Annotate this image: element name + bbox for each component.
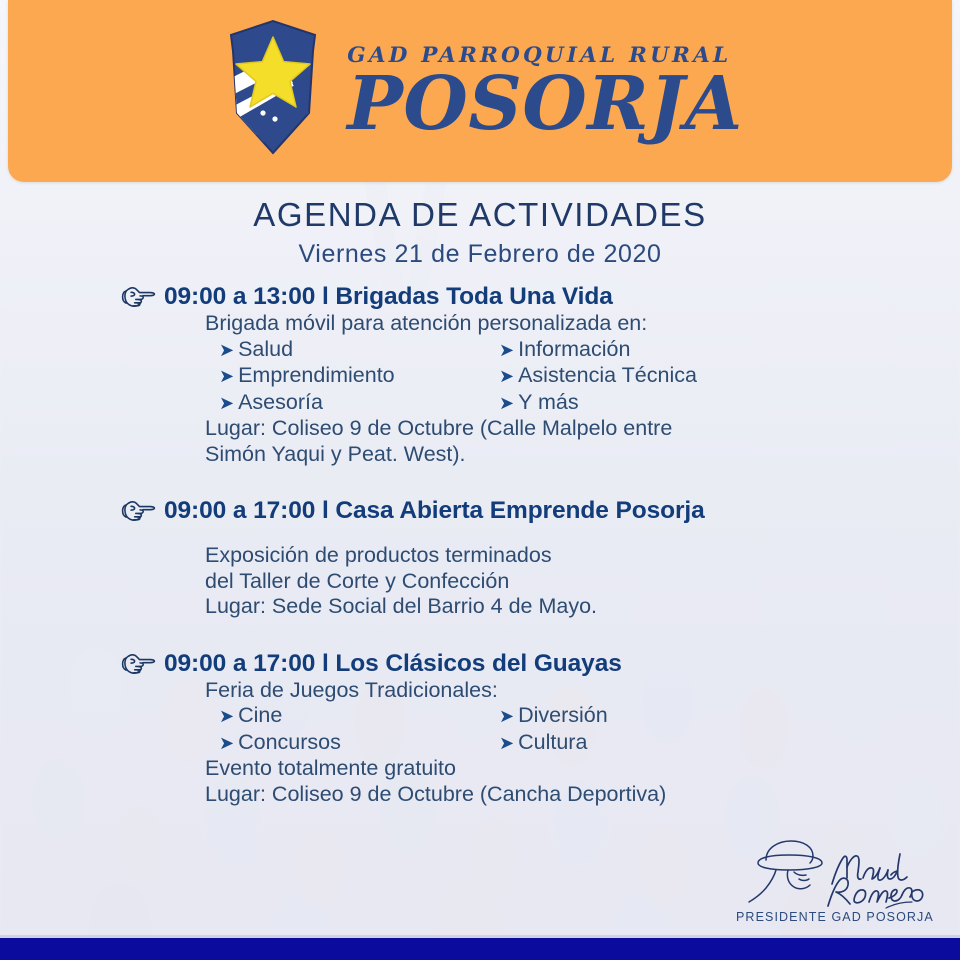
brand-lockup: GAD PARROQUIAL RURAL POSORJA — [217, 17, 742, 157]
event-location-line: Lugar: Coliseo 9 de Octubre (Calle Malpe… — [205, 416, 960, 442]
bullet-item: ➤ Emprendimiento — [219, 363, 499, 390]
event-title: 09:00 a 13:00 l Brigadas Toda Una Vida — [164, 283, 613, 311]
event-location-line: Simón Yaqui y Peat. West). — [205, 442, 960, 468]
signature-caption: PRESIDENTE GAD POSORJA — [736, 910, 932, 924]
event-heading: 09:00 a 17:00 l Los Clásicos del Guayas — [0, 650, 960, 678]
bullet-label: Y más — [518, 390, 579, 416]
event-item: 09:00 a 17:00 l Casa Abierta Emprende Po… — [0, 497, 960, 620]
bullet-arrow-icon: ➤ — [499, 391, 514, 417]
event-item: 09:00 a 17:00 l Los Clásicos del Guayas … — [0, 650, 960, 808]
bullet-label: Concursos — [238, 730, 341, 756]
event-title: 09:00 a 17:00 l Los Clásicos del Guayas — [164, 650, 622, 678]
footer-bar — [0, 938, 960, 960]
bullet-item: ➤ Cine — [219, 703, 499, 730]
page-title: AGENDA DE ACTIVIDADES — [0, 196, 960, 234]
event-location-line: Lugar: Coliseo 9 de Octubre (Cancha Depo… — [205, 782, 960, 808]
event-detail-line: del Taller de Corte y Confección — [205, 569, 960, 595]
event-detail-line: Exposición de productos terminados — [205, 543, 960, 569]
event-heading: 09:00 a 13:00 l Brigadas Toda Una Vida — [0, 283, 960, 311]
bullet-arrow-icon: ➤ — [219, 731, 234, 757]
bullet-item: ➤ Concursos — [219, 730, 499, 757]
bullets-column-left: ➤ Salud ➤ Emprendimiento ➤ Asesoría — [205, 337, 499, 417]
pointing-hand-icon — [118, 650, 158, 678]
bullet-arrow-icon: ➤ — [499, 338, 514, 364]
bullet-label: Salud — [238, 337, 293, 363]
bullet-label: Cultura — [518, 730, 587, 756]
event-detail-line: Evento totalmente gratuito — [205, 756, 960, 782]
bullet-arrow-icon: ➤ — [219, 704, 234, 730]
event-location-line: Lugar: Sede Social del Barrio 4 de Mayo. — [205, 594, 960, 620]
pointing-hand-icon — [118, 497, 158, 525]
event-body: Feria de Juegos Tradicionales: ➤ Cine ➤ … — [0, 678, 960, 808]
events-list: 09:00 a 13:00 l Brigadas Toda Una Vida B… — [0, 283, 960, 807]
bullet-label: Información — [518, 337, 630, 363]
agenda-poster: GAD PARROQUIAL RURAL POSORJA AGENDA DE A… — [0, 0, 960, 960]
signature-block: PRESIDENTE GAD POSORJA — [736, 834, 932, 924]
brand-header: GAD PARROQUIAL RURAL POSORJA — [8, 0, 952, 182]
event-item: 09:00 a 13:00 l Brigadas Toda Una Vida B… — [0, 283, 960, 467]
bullet-arrow-icon: ➤ — [499, 731, 514, 757]
brand-wordmark: GAD PARROQUIAL RURAL POSORJA — [347, 43, 742, 138]
event-bullets: ➤ Salud ➤ Emprendimiento ➤ Asesoría — [205, 337, 960, 417]
manuel-romero-signature-icon — [736, 834, 932, 912]
bullet-arrow-icon: ➤ — [219, 338, 234, 364]
bullet-label: Emprendimiento — [238, 363, 395, 389]
event-bullets: ➤ Cine ➤ Concursos ➤ Diversión — [205, 703, 960, 756]
event-heading: 09:00 a 17:00 l Casa Abierta Emprende Po… — [0, 497, 960, 525]
event-intro: Feria de Juegos Tradicionales: — [205, 678, 960, 704]
brand-name: POSORJA — [347, 70, 742, 138]
bullet-arrow-icon: ➤ — [499, 364, 514, 390]
bullet-arrow-icon: ➤ — [219, 364, 234, 390]
event-body: Exposición de productos terminados del T… — [0, 525, 960, 620]
bullet-item: ➤ Asesoría — [219, 390, 499, 417]
event-intro: Brigada móvil para atención personalizad… — [205, 311, 960, 337]
posorja-shield-icon — [217, 17, 329, 157]
bullet-label: Asesoría — [238, 390, 323, 416]
bullet-arrow-icon: ➤ — [499, 704, 514, 730]
page-date: Viernes 21 de Febrero de 2020 — [0, 240, 960, 269]
event-title: 09:00 a 17:00 l Casa Abierta Emprende Po… — [164, 497, 705, 525]
bullet-arrow-icon: ➤ — [219, 391, 234, 417]
bullet-item: ➤ Salud — [219, 337, 499, 364]
pointing-hand-icon — [118, 283, 158, 311]
bullet-label: Diversión — [518, 703, 608, 729]
bullets-column-left: ➤ Cine ➤ Concursos — [205, 703, 499, 756]
event-body: Brigada móvil para atención personalizad… — [0, 311, 960, 467]
bullet-label: Asistencia Técnica — [518, 363, 697, 389]
bullet-label: Cine — [238, 703, 282, 729]
